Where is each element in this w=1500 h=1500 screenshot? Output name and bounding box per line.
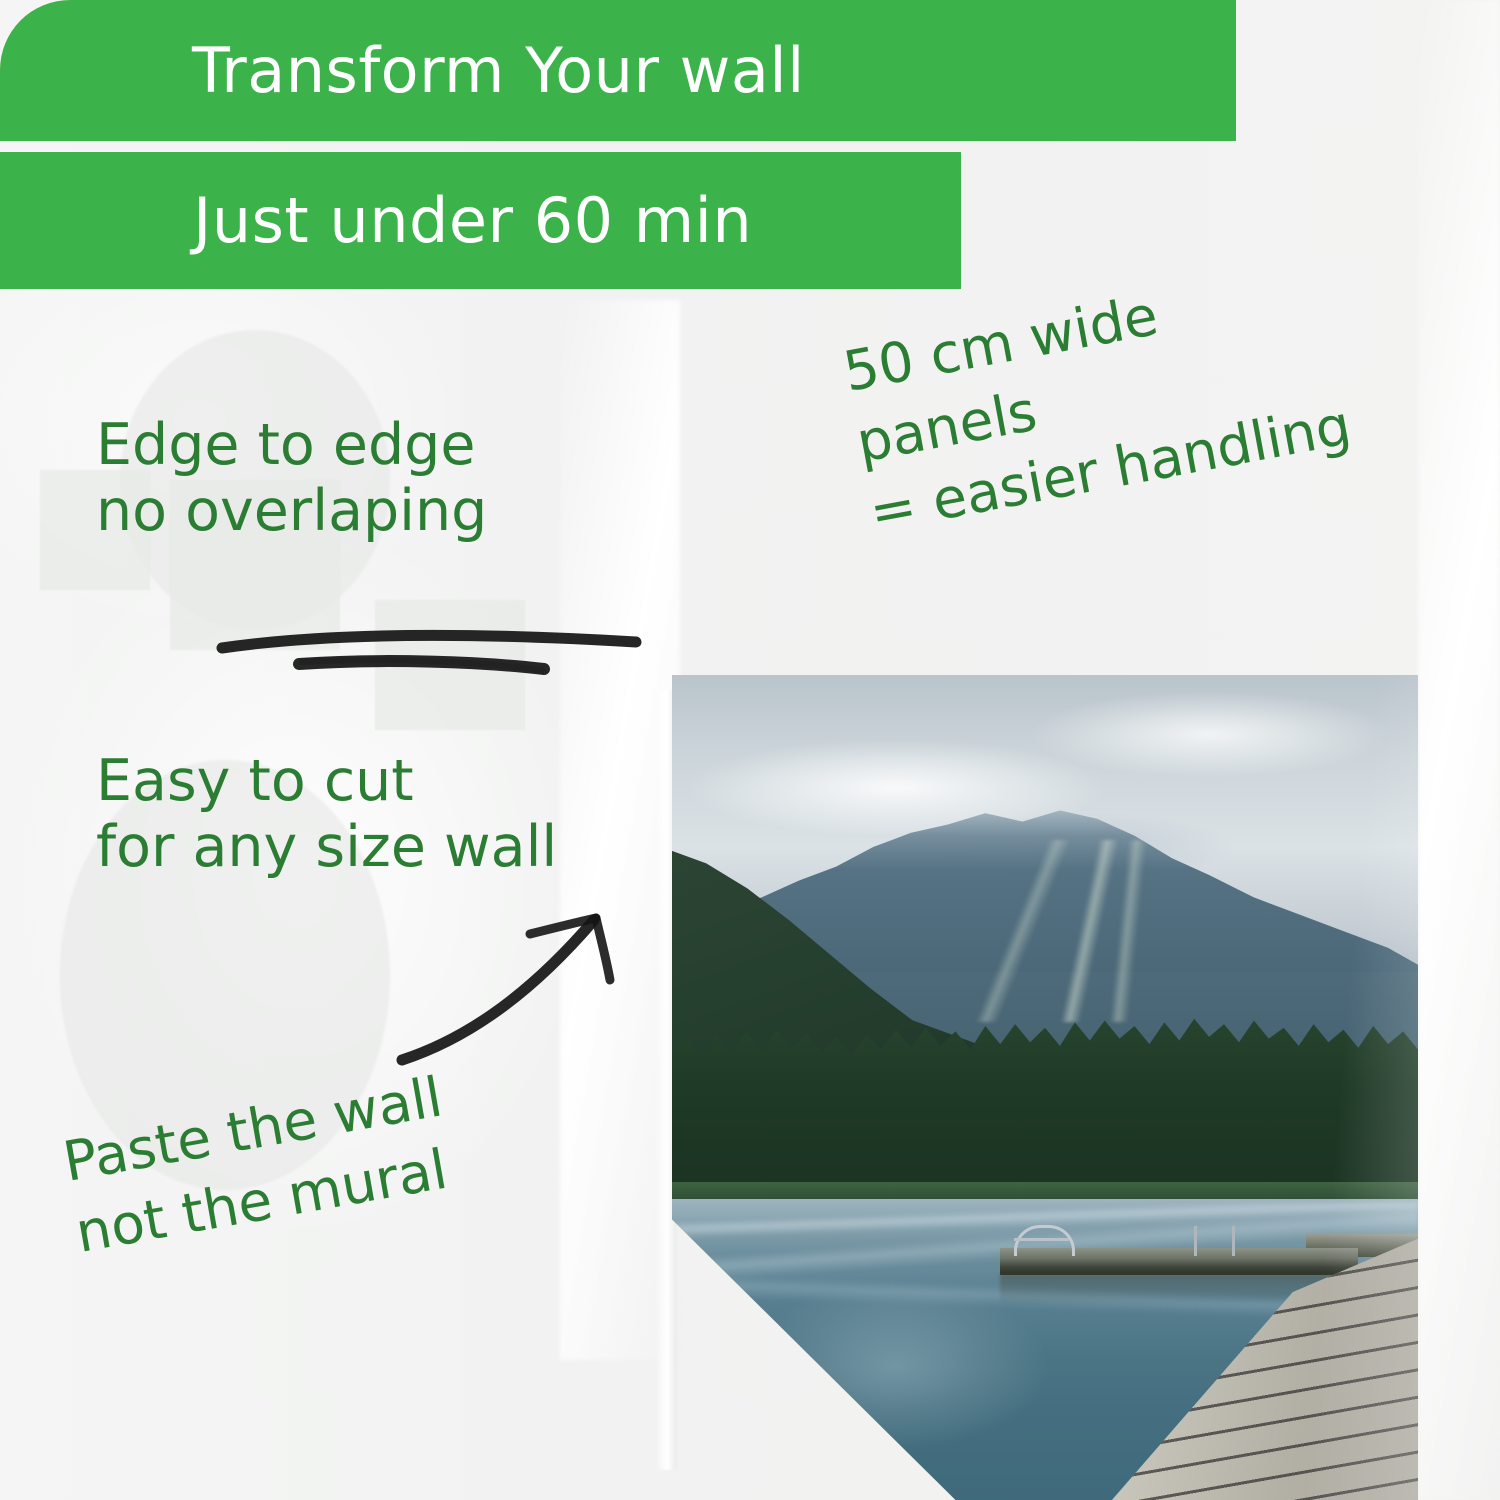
curved-arrow-up-right-icon bbox=[372, 892, 662, 1102]
photo-swim-ladder-bar bbox=[1014, 1238, 1069, 1241]
photo-conifer-treeline bbox=[672, 1013, 1418, 1195]
photo-dock-post-1 bbox=[1194, 1226, 1197, 1256]
banner-just-under-60-min: Just under 60 min bbox=[0, 152, 961, 289]
infographic-page: Transform Your wall Just under 60 min Ed… bbox=[0, 0, 1500, 1500]
paper-edge-right bbox=[1418, 0, 1500, 1500]
feature-edge-to-edge: Edge to edge no overlaping bbox=[96, 412, 487, 544]
feature-easy-to-cut: Easy to cut for any size wall bbox=[96, 748, 557, 880]
double-underline-mark bbox=[184, 596, 684, 706]
photo-ski-runs bbox=[970, 840, 1224, 1022]
banner-transform-text: Transform Your wall bbox=[192, 34, 805, 107]
banner-duration-text: Just under 60 min bbox=[193, 184, 752, 257]
photo-dock-post-2 bbox=[1232, 1226, 1235, 1256]
banner-transform-your-wall: Transform Your wall bbox=[0, 0, 1236, 141]
